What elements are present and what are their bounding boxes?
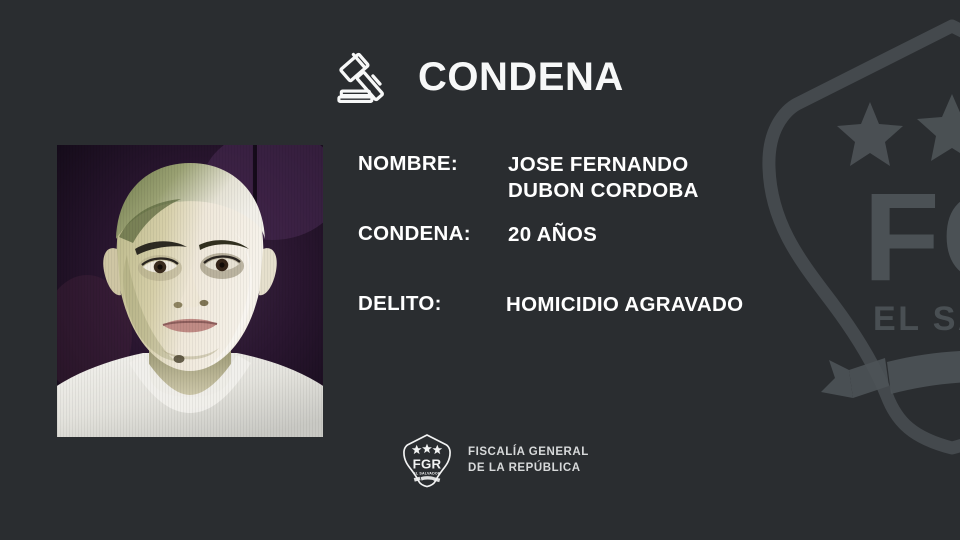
info-value-condena: 20 AÑOS	[508, 222, 597, 248]
fgr-shield-icon: FGR EL SALVADOR	[400, 433, 454, 488]
info-value-nombre-line1: JOSE FERNANDO	[508, 152, 699, 178]
gavel-icon	[336, 46, 398, 108]
watermark-monogram: FG	[863, 168, 960, 307]
info-label-delito: DELITO:	[358, 292, 442, 316]
mugshot-portrait-image	[57, 145, 323, 437]
info-value-delito: HOMICIDIO AGRAVADO	[506, 292, 743, 318]
footer-shield-monogram: FGR	[413, 456, 442, 471]
info-label-nombre: NOMBRE:	[358, 152, 458, 176]
page-title-row: CONDENA	[336, 42, 624, 112]
footer-institution-name: FISCALÍA GENERAL DE LA REPÚBLICA	[468, 445, 589, 476]
info-value-nombre-line2: DUBON CORDOBA	[508, 178, 699, 204]
info-row-nombre: NOMBRE: JOSE FERNANDO DUBON CORDOBA	[358, 152, 828, 222]
page-title: CONDENA	[418, 57, 624, 97]
fgr-footer-logo: FGR EL SALVADOR FISCALÍA GENERAL DE LA R…	[400, 433, 589, 488]
footer-institution-line2: DE LA REPÚBLICA	[468, 461, 589, 477]
case-info-block: NOMBRE: JOSE FERNANDO DUBON CORDOBA COND…	[358, 152, 828, 332]
info-label-condena: CONDENA:	[358, 222, 471, 246]
watermark-subtitle: EL SALV	[873, 300, 960, 338]
info-row-condena: CONDENA: 20 AÑOS	[358, 222, 828, 292]
footer-institution-line1: FISCALÍA GENERAL	[468, 445, 589, 461]
mugshot-photo	[57, 145, 323, 437]
poster-canvas: FG EL SALV 19	[0, 0, 960, 540]
footer-shield-subtitle: EL SALVADOR	[413, 472, 441, 476]
info-row-delito: DELITO: HOMICIDIO AGRAVADO	[358, 292, 828, 332]
info-value-nombre: JOSE FERNANDO DUBON CORDOBA	[508, 152, 699, 204]
